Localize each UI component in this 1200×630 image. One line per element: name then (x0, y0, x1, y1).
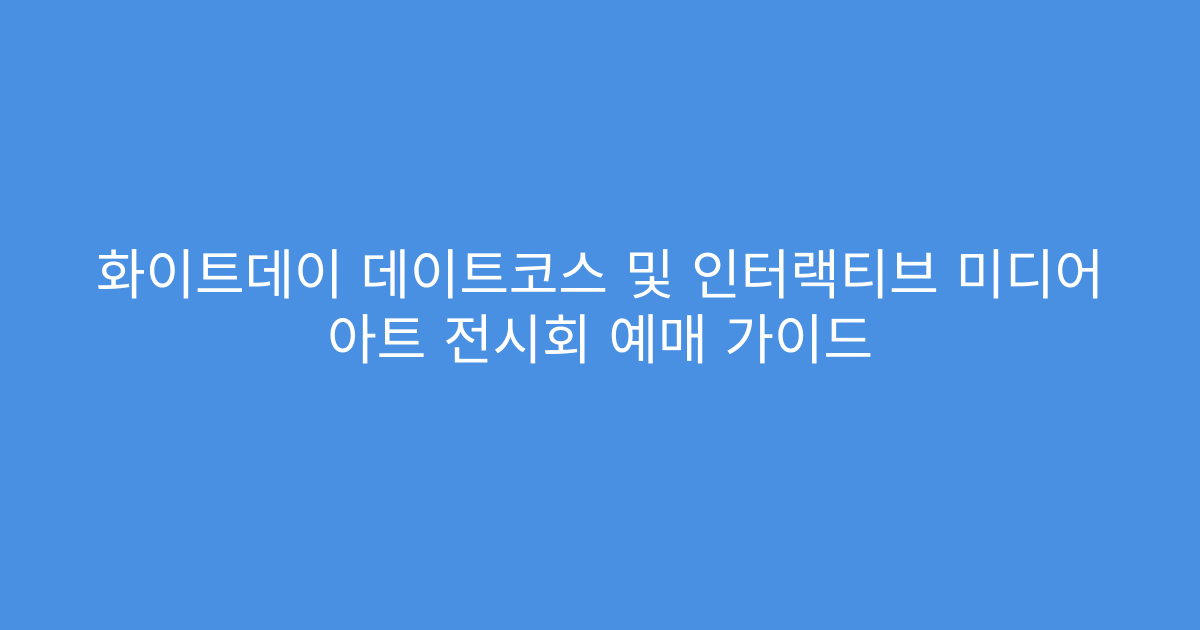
title-block: 화이트데이 데이트코스 및 인터랙티브 미디어 아트 전시회 예매 가이드 (0, 243, 1200, 373)
og-image-card: 화이트데이 데이트코스 및 인터랙티브 미디어 아트 전시회 예매 가이드 (0, 0, 1200, 630)
page-title: 화이트데이 데이트코스 및 인터랙티브 미디어 아트 전시회 예매 가이드 (50, 243, 1150, 373)
